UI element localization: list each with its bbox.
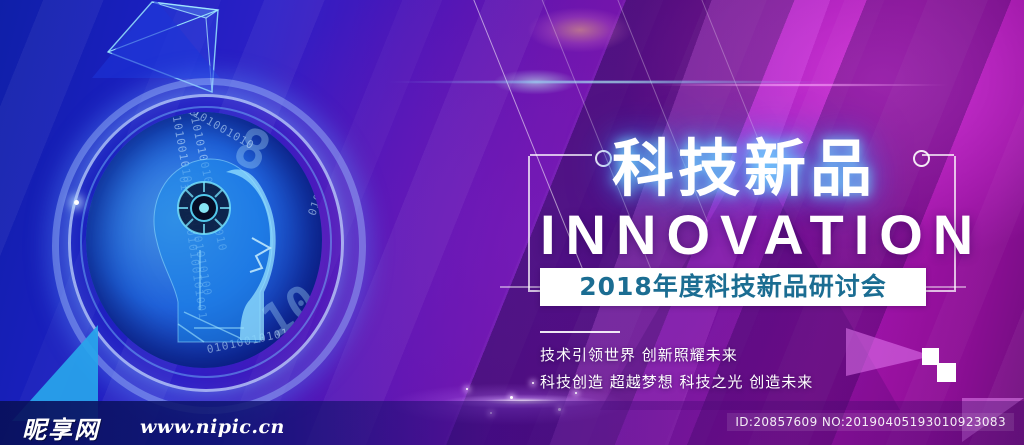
tagline-line-2: 科技创造 超越梦想 科技之光 创造未来 xyxy=(540,369,813,396)
event-badge-label: 2018年度科技新品研讨会 xyxy=(540,268,926,306)
top-sparkle-glow xyxy=(470,0,690,62)
emblem-ring-outer xyxy=(52,78,366,414)
watermark-url: www.nipic.cn xyxy=(140,416,285,438)
tagline-line-1: 技术引领世界 创新照耀未来 xyxy=(540,342,813,369)
tagline-divider xyxy=(540,331,620,333)
blue-triangle-topleft xyxy=(92,0,220,78)
emblem-glow-dot xyxy=(74,200,79,205)
watermark-logo: 昵享网 xyxy=(22,410,100,445)
event-badge: 2018年度科技新品研讨会 xyxy=(540,268,926,306)
band-wing-left xyxy=(500,286,540,288)
magenta-triangle-right xyxy=(846,328,932,376)
robot-head-emblem: 8 10 010100101010010101001010 1010010101… xyxy=(56,72,346,408)
lens-flare-secondary xyxy=(640,72,1024,98)
promo-banner: 8 10 010100101010010101001010 1010010101… xyxy=(0,0,1024,445)
image-id-label: ID:20857609 NO:20190405193010923083 xyxy=(727,413,1014,431)
frame-dot-right-icon xyxy=(913,150,930,167)
page-subtitle: INNOVATION xyxy=(540,202,983,267)
band-wing-right xyxy=(926,286,966,288)
footer-bar: 昵享网 www.nipic.cn ID:20857609 NO:20190405… xyxy=(0,401,1024,445)
tagline-block: 技术引领世界 创新照耀未来 科技创造 超越梦想 科技之光 创造未来 xyxy=(540,342,813,396)
page-title: 科技新品 xyxy=(612,118,876,208)
frame-dot-left-icon xyxy=(595,150,612,167)
white-stepped-square-icon xyxy=(922,348,956,382)
